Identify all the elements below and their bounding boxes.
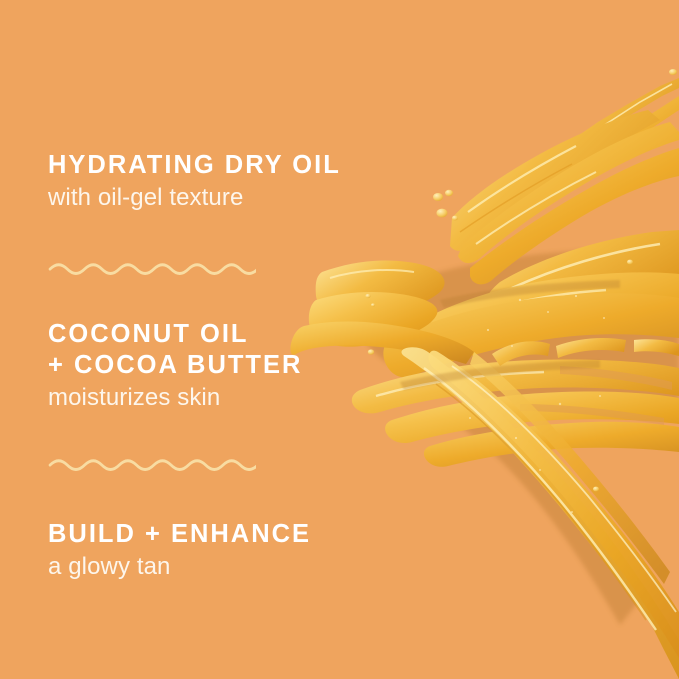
- oil-droplet: [433, 193, 443, 201]
- feature-item-2: COCONUT OIL + COCOA BUTTER moisturizes s…: [48, 319, 378, 413]
- feature-subtext-1: with oil-gel texture: [48, 183, 378, 213]
- product-feature-graphic: HYDRATING DRY OIL with oil-gel texture C…: [0, 0, 679, 679]
- feature-item-1: HYDRATING DRY OIL with oil-gel texture: [48, 150, 378, 213]
- feature-heading-3: BUILD + ENHANCE: [48, 519, 378, 550]
- feature-item-3: BUILD + ENHANCE a glowy tan: [48, 519, 378, 582]
- feature-heading-1: HYDRATING DRY OIL: [48, 150, 378, 181]
- wavy-divider-2: [48, 453, 256, 475]
- feature-list: HYDRATING DRY OIL with oil-gel texture C…: [48, 150, 378, 582]
- feature-subtext-2: moisturizes skin: [48, 383, 378, 413]
- wavy-divider-1: [48, 257, 256, 279]
- feature-heading-2: COCONUT OIL + COCOA BUTTER: [48, 319, 378, 381]
- feature-subtext-3: a glowy tan: [48, 552, 378, 582]
